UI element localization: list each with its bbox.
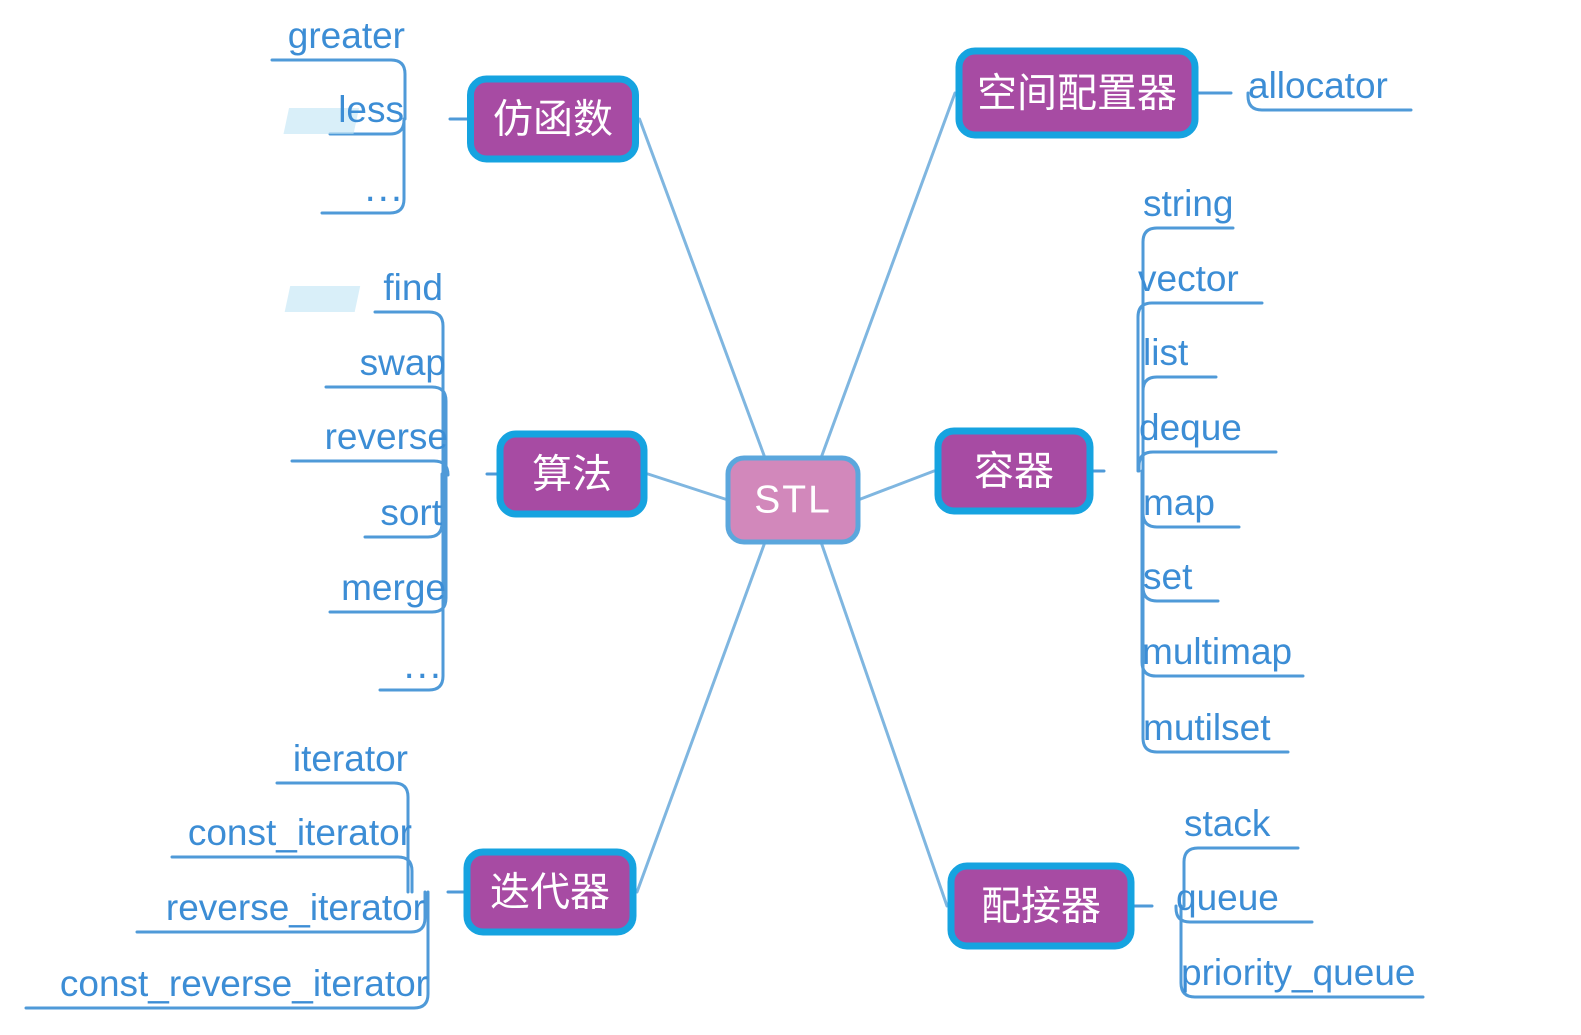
- branch-node-label-functor: 仿函数: [493, 98, 613, 142]
- leaf-label-functor-0[interactable]: greater: [288, 15, 405, 56]
- spoke-to-algorithm: [648, 474, 728, 500]
- leaf-label-container-2[interactable]: list: [1143, 332, 1189, 373]
- leaf-label-algorithm-0[interactable]: find: [383, 267, 443, 308]
- branch-node-container[interactable]: 容器: [938, 431, 1090, 511]
- leaf-label-algorithm-3[interactable]: sort: [380, 492, 442, 533]
- center-node[interactable]: STL: [728, 458, 858, 542]
- spoke-to-iterator: [637, 542, 765, 892]
- spoke-to-allocator: [821, 93, 955, 458]
- leaf-label-iterator-1[interactable]: const_iterator: [188, 812, 412, 853]
- leaf-label-algorithm-4[interactable]: merge: [341, 567, 446, 608]
- leaf-highlight-marks: [284, 108, 361, 312]
- leaf-label-container-3[interactable]: deque: [1139, 407, 1242, 448]
- branch-node-functor[interactable]: 仿函数: [471, 79, 636, 159]
- leaf-label-container-1[interactable]: vector: [1138, 258, 1239, 299]
- center-node-label: STL: [754, 478, 832, 521]
- leaf-label-adapter-0[interactable]: stack: [1184, 803, 1271, 844]
- leaf-label-container-0[interactable]: string: [1143, 183, 1233, 224]
- branch-node-algorithm[interactable]: 算法: [500, 434, 644, 514]
- spoke-to-functor: [640, 119, 766, 458]
- leaf-label-container-7[interactable]: mutilset: [1143, 707, 1271, 748]
- branch-node-label-adapter: 配接器: [981, 885, 1101, 929]
- branch-node-label-iterator: 迭代器: [490, 871, 610, 915]
- leaf-label-container-5[interactable]: set: [1143, 556, 1193, 597]
- leaf-label-functor-1[interactable]: less: [338, 89, 404, 130]
- branch-node-label-allocator: 空间配置器: [977, 72, 1177, 116]
- spoke-to-adapter: [821, 542, 947, 906]
- branch-node-iterator[interactable]: 迭代器: [467, 852, 633, 932]
- leaf-label-adapter-1[interactable]: queue: [1176, 877, 1279, 918]
- leaf-label-adapter-2[interactable]: priority_queue: [1181, 952, 1415, 993]
- spoke-to-container: [858, 471, 934, 500]
- branch-node-adapter[interactable]: 配接器: [951, 866, 1131, 946]
- leaf-label-functor-2[interactable]: ...: [365, 166, 404, 210]
- leaf-connector-algorithm-2: [292, 461, 448, 475]
- branch-node-label-container: 容器: [974, 450, 1054, 494]
- leaf-label-algorithm-1[interactable]: swap: [360, 342, 446, 383]
- branch-node-allocator[interactable]: 空间配置器: [959, 51, 1195, 135]
- leaf-label-container-6[interactable]: multimap: [1142, 631, 1292, 672]
- leaf-connector-container-3: [1139, 452, 1276, 471]
- leaf-label-iterator-3[interactable]: const_reverse_iterator: [60, 963, 428, 1004]
- leaf-label-iterator-0[interactable]: iterator: [293, 738, 408, 779]
- leaf-label-container-4[interactable]: map: [1143, 482, 1215, 523]
- leaf-label-allocator-0[interactable]: allocator: [1248, 65, 1388, 106]
- leaf-highlight-algorithm-0: [285, 286, 361, 312]
- stl-mind-map: greaterless...findswapreversesortmerge..…: [0, 0, 1581, 1035]
- leaf-label-algorithm-2[interactable]: reverse: [325, 416, 448, 457]
- leaf-label-iterator-2[interactable]: reverse_iterator: [166, 887, 425, 928]
- leaf-label-algorithm-5[interactable]: ...: [404, 643, 443, 687]
- branch-node-label-algorithm: 算法: [532, 453, 612, 497]
